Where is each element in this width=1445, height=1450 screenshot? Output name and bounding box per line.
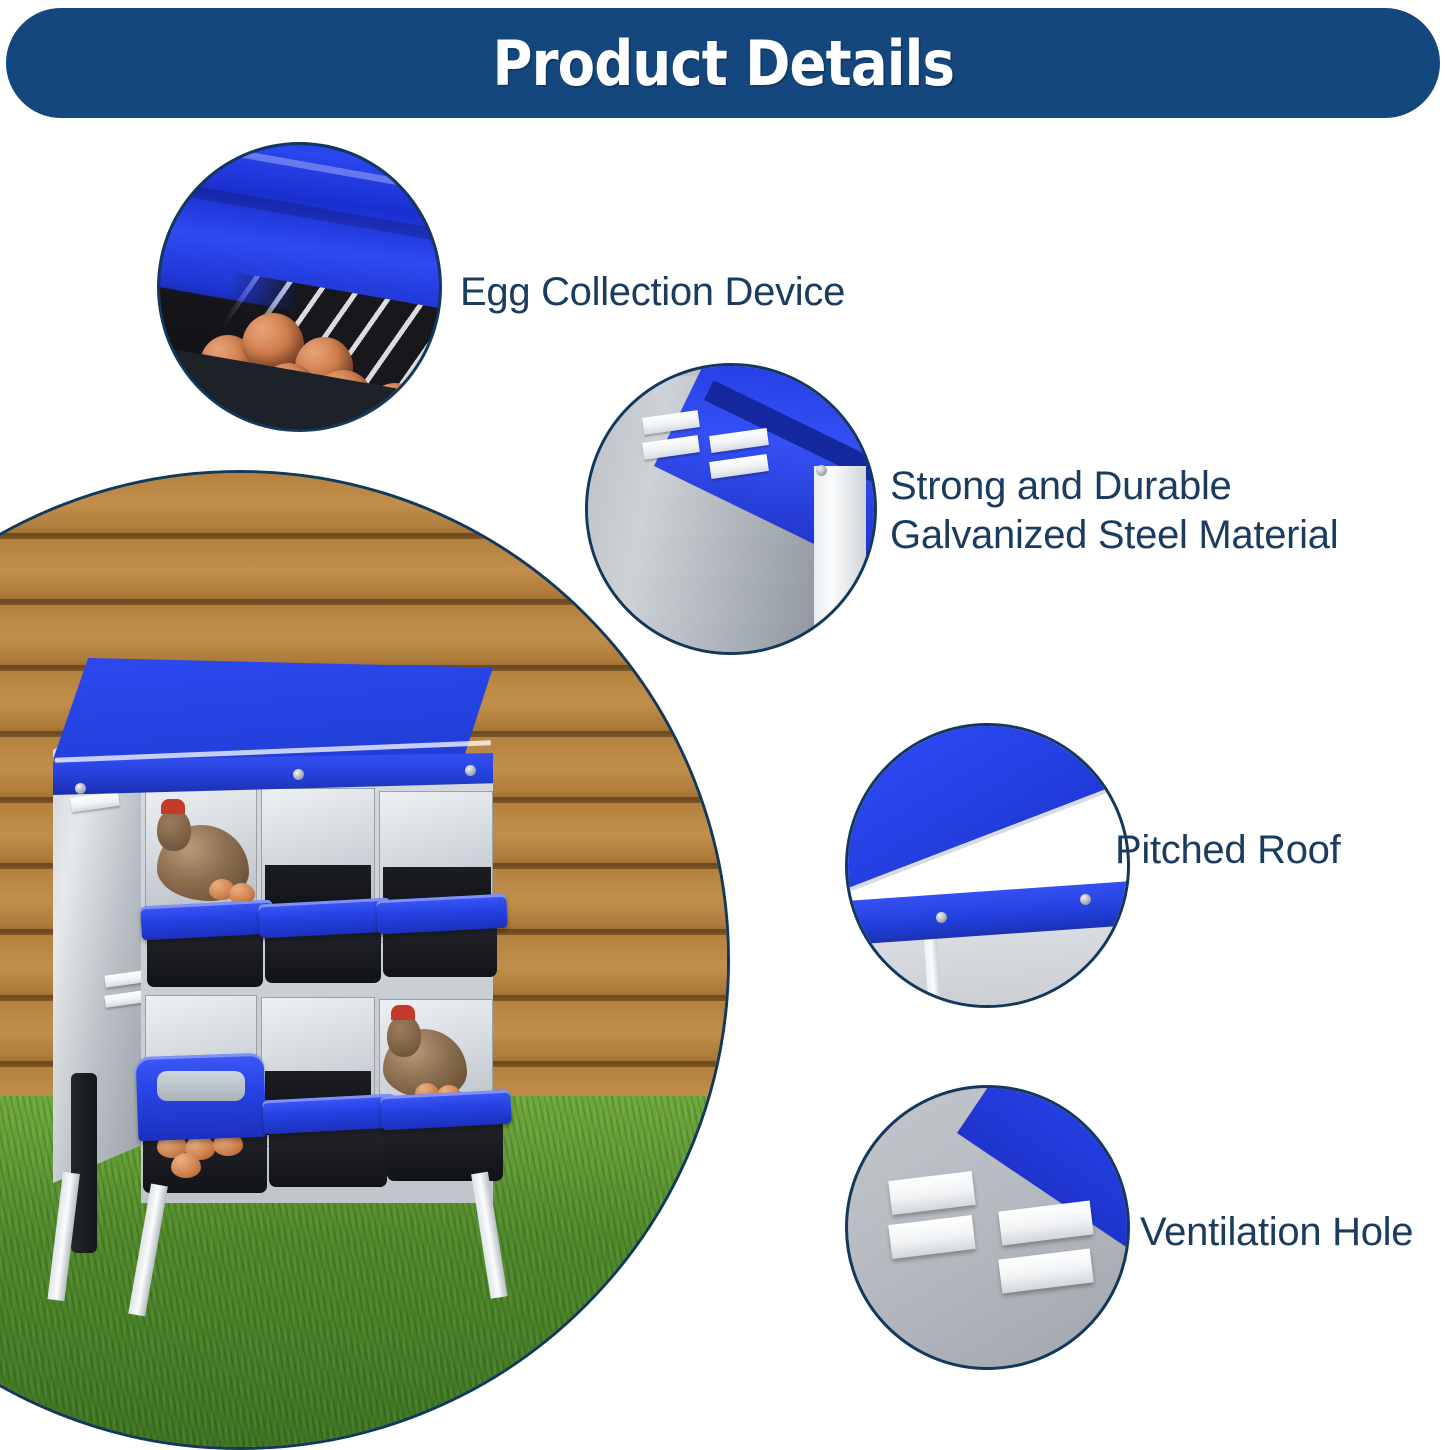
- callout-label-ventilation-hole: Ventilation Hole: [1140, 1208, 1413, 1257]
- callout-label-pitched-roof: Pitched Roof: [1115, 826, 1340, 875]
- callout-label-galvanized-steel: Strong and Durable Galvanized Steel Mate…: [890, 462, 1338, 560]
- rivet: [465, 765, 476, 776]
- hen-head: [157, 809, 191, 851]
- ventilation-slot: [888, 1171, 976, 1215]
- rivet: [1080, 894, 1091, 905]
- callout-image-ventilation-hole: [845, 1085, 1130, 1370]
- screw: [816, 465, 827, 476]
- tray-lid-handle-slot: [157, 1071, 245, 1101]
- carry-handle: [71, 1073, 97, 1253]
- ventilation-slot: [998, 1201, 1093, 1246]
- steel-corner-post: [814, 466, 866, 655]
- rivet: [293, 769, 304, 780]
- hen-comb: [161, 799, 185, 814]
- tray-lid: [140, 900, 274, 941]
- tray-lid: [376, 894, 508, 935]
- tray-lid: [262, 1094, 396, 1135]
- callout-image-egg-collection: [157, 142, 442, 432]
- callout-label-egg-collection: Egg Collection Device: [460, 268, 845, 317]
- page-header-bar: Product Details: [6, 8, 1440, 118]
- tray-lid: [380, 1090, 512, 1131]
- ventilation-slot: [998, 1249, 1093, 1294]
- ventilation-slot: [888, 1215, 976, 1259]
- main-product-photo: [0, 470, 730, 1450]
- tray-lid: [258, 898, 392, 939]
- rivet: [936, 912, 947, 923]
- rivet: [75, 783, 86, 794]
- page-title: Product Details: [492, 27, 954, 100]
- hen-comb: [391, 1005, 415, 1020]
- callout-image-pitched-roof: [845, 723, 1130, 1008]
- egg: [171, 1153, 201, 1178]
- hen-head: [387, 1015, 421, 1057]
